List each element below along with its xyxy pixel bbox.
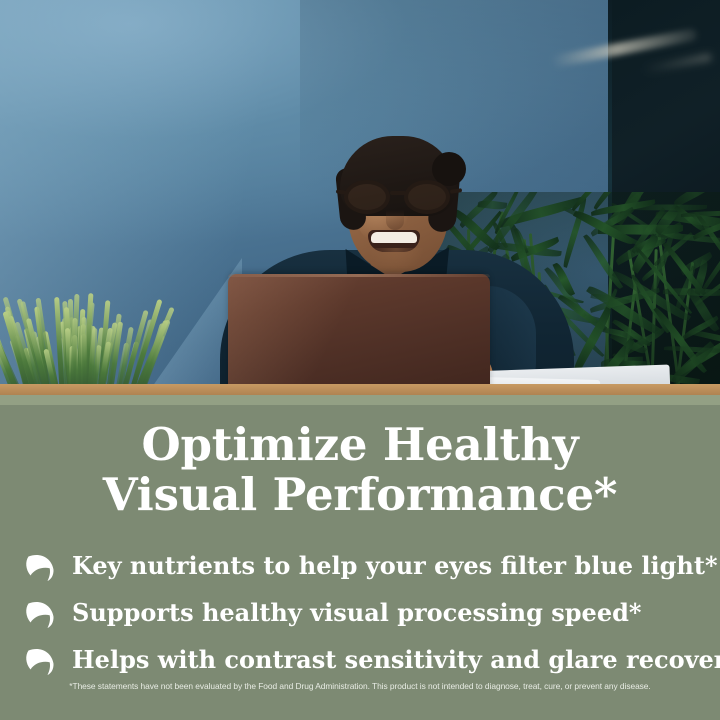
hero-photo [0, 0, 720, 398]
benefits-list: Key nutrients to help your eyes filter b… [24, 545, 714, 686]
leaf-icon [24, 549, 58, 583]
lens-right [404, 180, 450, 214]
panel-top-strip [0, 395, 720, 405]
headline-line-2: Visual Performance* [0, 470, 720, 520]
glasses-bridge [390, 191, 406, 195]
lens-left [344, 180, 390, 214]
glasses-temple-right [450, 188, 462, 194]
fda-disclaimer: *These statements have not been evaluate… [0, 680, 720, 692]
grass-plant [4, 290, 154, 398]
laptop [228, 274, 490, 398]
list-item: Key nutrients to help your eyes filter b… [24, 545, 714, 587]
laptop-sheen [228, 274, 490, 398]
benefits-panel: Optimize Healthy Visual Performance* Key… [0, 395, 720, 720]
list-item-label: Supports healthy visual processing speed… [72, 599, 641, 627]
page-title: Optimize Healthy Visual Performance* [0, 420, 720, 520]
list-item: Supports healthy visual processing speed… [24, 592, 714, 634]
leaf-icon [24, 596, 58, 630]
product-benefit-card: Optimize Healthy Visual Performance* Key… [0, 0, 720, 720]
leaf-icon [24, 643, 58, 677]
headline-line-1: Optimize Healthy [142, 418, 579, 471]
teeth [371, 232, 417, 243]
list-item-label: Helps with contrast sensitivity and glar… [72, 646, 720, 674]
palm-frond [681, 210, 720, 217]
eyeglasses [340, 180, 462, 214]
laptop-top-edge [228, 274, 490, 277]
list-item-label: Key nutrients to help your eyes filter b… [72, 552, 718, 580]
nose [386, 210, 404, 230]
list-item: Helps with contrast sensitivity and glar… [24, 639, 714, 681]
